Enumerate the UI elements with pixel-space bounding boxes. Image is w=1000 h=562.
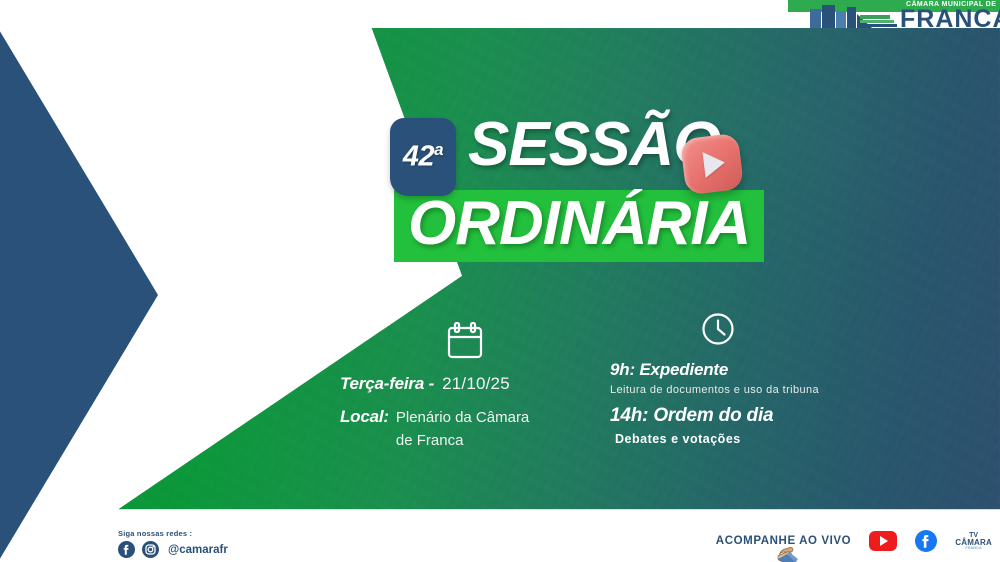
play-badge-icon [680,133,744,196]
facebook-icon[interactable] [915,530,937,552]
weekday-label: Terça-feira - [340,374,434,394]
agenda-item-1-time: 9h: Expediente [610,360,825,380]
agenda-item-2-detail: Debates e votações [615,432,825,446]
follow-label: Siga nossas redes : [118,529,228,538]
youtube-icon[interactable] [869,531,897,551]
live-broadcast-block: ACOMPANHE AO VIVO TV CÂMARA FRANCA [716,530,992,552]
social-handle[interactable]: @camarafr [168,544,228,556]
social-follow-block: Siga nossas redes : @camarafr [118,529,228,558]
session-date-line: Terça-feira - 21/10/25 [340,374,590,394]
agenda-item-1-detail: Leitura de documentos e uso da tribuna [610,383,825,398]
location-value: Plenário da Câmara de Franca [396,407,546,452]
buildings-icon [808,3,900,29]
logo-franca-text: FRANCA [900,7,1000,32]
title-word-ordinaria: ORDINÁRIA [408,193,750,255]
calendar-icon [447,322,483,360]
date-location-block: Terça-feira - 21/10/25 Local: Plenário d… [340,322,590,452]
session-number-badge: 42a [390,118,456,196]
agenda-block: 9h: Expediente Leitura de documentos e u… [610,312,825,446]
instagram-icon[interactable] [142,541,159,558]
title-highlight-band: ORDINÁRIA [394,190,764,262]
navy-chevron-shape [0,28,158,562]
date-value: 21/10/25 [442,374,510,394]
session-ordinal: a [434,140,443,159]
session-location-line: Local: Plenário da Câmara de Franca [340,407,590,452]
camara-franca-logo: CÂMARA MUNICIPAL DE FRANCA [788,0,1000,30]
pointing-hand-icon [774,543,804,562]
session-number: 42 [403,141,434,173]
tv-camara-logo[interactable]: TV CÂMARA FRANCA [955,532,992,551]
tvcam-sub-text: FRANCA [966,547,982,551]
clock-icon [701,312,735,346]
facebook-icon[interactable] [118,541,135,558]
agenda-item-2-time: 14h: Ordem do dia [610,405,825,427]
location-label: Local: [340,407,389,427]
session-announcement-poster: CÂMARA MUNICIPAL DE FRANCA 42a SESSÃO OR… [0,0,1000,562]
